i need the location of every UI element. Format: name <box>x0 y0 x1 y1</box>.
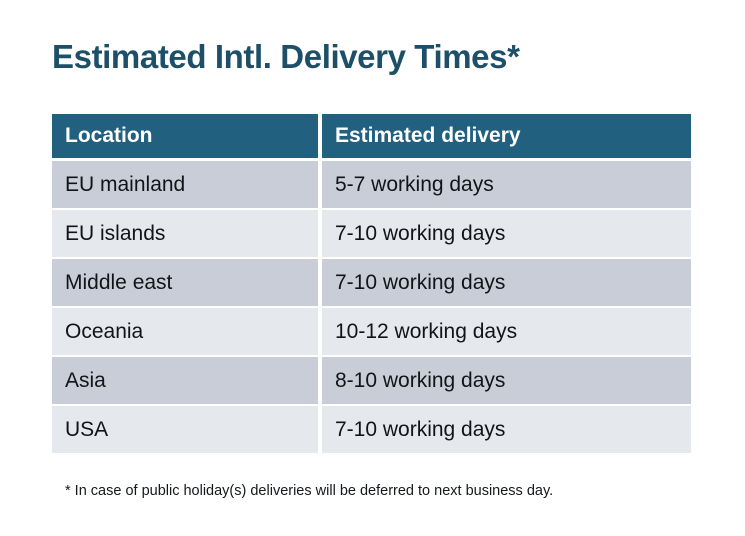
column-header-estimated-delivery: Estimated delivery <box>322 114 691 158</box>
delivery-times-page: Estimated Intl. Delivery Times* Location… <box>0 0 745 536</box>
cell-delivery: 7-10 working days <box>322 259 691 306</box>
page-title: Estimated Intl. Delivery Times* <box>52 36 520 78</box>
table-row: Oceania 10-12 working days <box>52 308 691 355</box>
cell-location: Oceania <box>52 308 318 355</box>
cell-delivery: 7-10 working days <box>322 210 691 257</box>
cell-delivery: 8-10 working days <box>322 357 691 404</box>
table-row: EU mainland 5-7 working days <box>52 161 691 208</box>
table-header-row: Location Estimated delivery <box>52 114 691 158</box>
cell-location: Asia <box>52 357 318 404</box>
column-header-location: Location <box>52 114 318 158</box>
table-row: Middle east 7-10 working days <box>52 259 691 306</box>
cell-location: EU islands <box>52 210 318 257</box>
cell-delivery: 5-7 working days <box>322 161 691 208</box>
table-row: EU islands 7-10 working days <box>52 210 691 257</box>
table-row: USA 7-10 working days <box>52 406 691 453</box>
footnote-text: * In case of public holiday(s) deliverie… <box>65 481 553 501</box>
cell-location: Middle east <box>52 259 318 306</box>
table-row: Asia 8-10 working days <box>52 357 691 404</box>
cell-delivery: 10-12 working days <box>322 308 691 355</box>
cell-location: USA <box>52 406 318 453</box>
estimated-delivery-times-table: Location Estimated delivery EU mainland … <box>52 114 691 455</box>
cell-delivery: 7-10 working days <box>322 406 691 453</box>
cell-location: EU mainland <box>52 161 318 208</box>
